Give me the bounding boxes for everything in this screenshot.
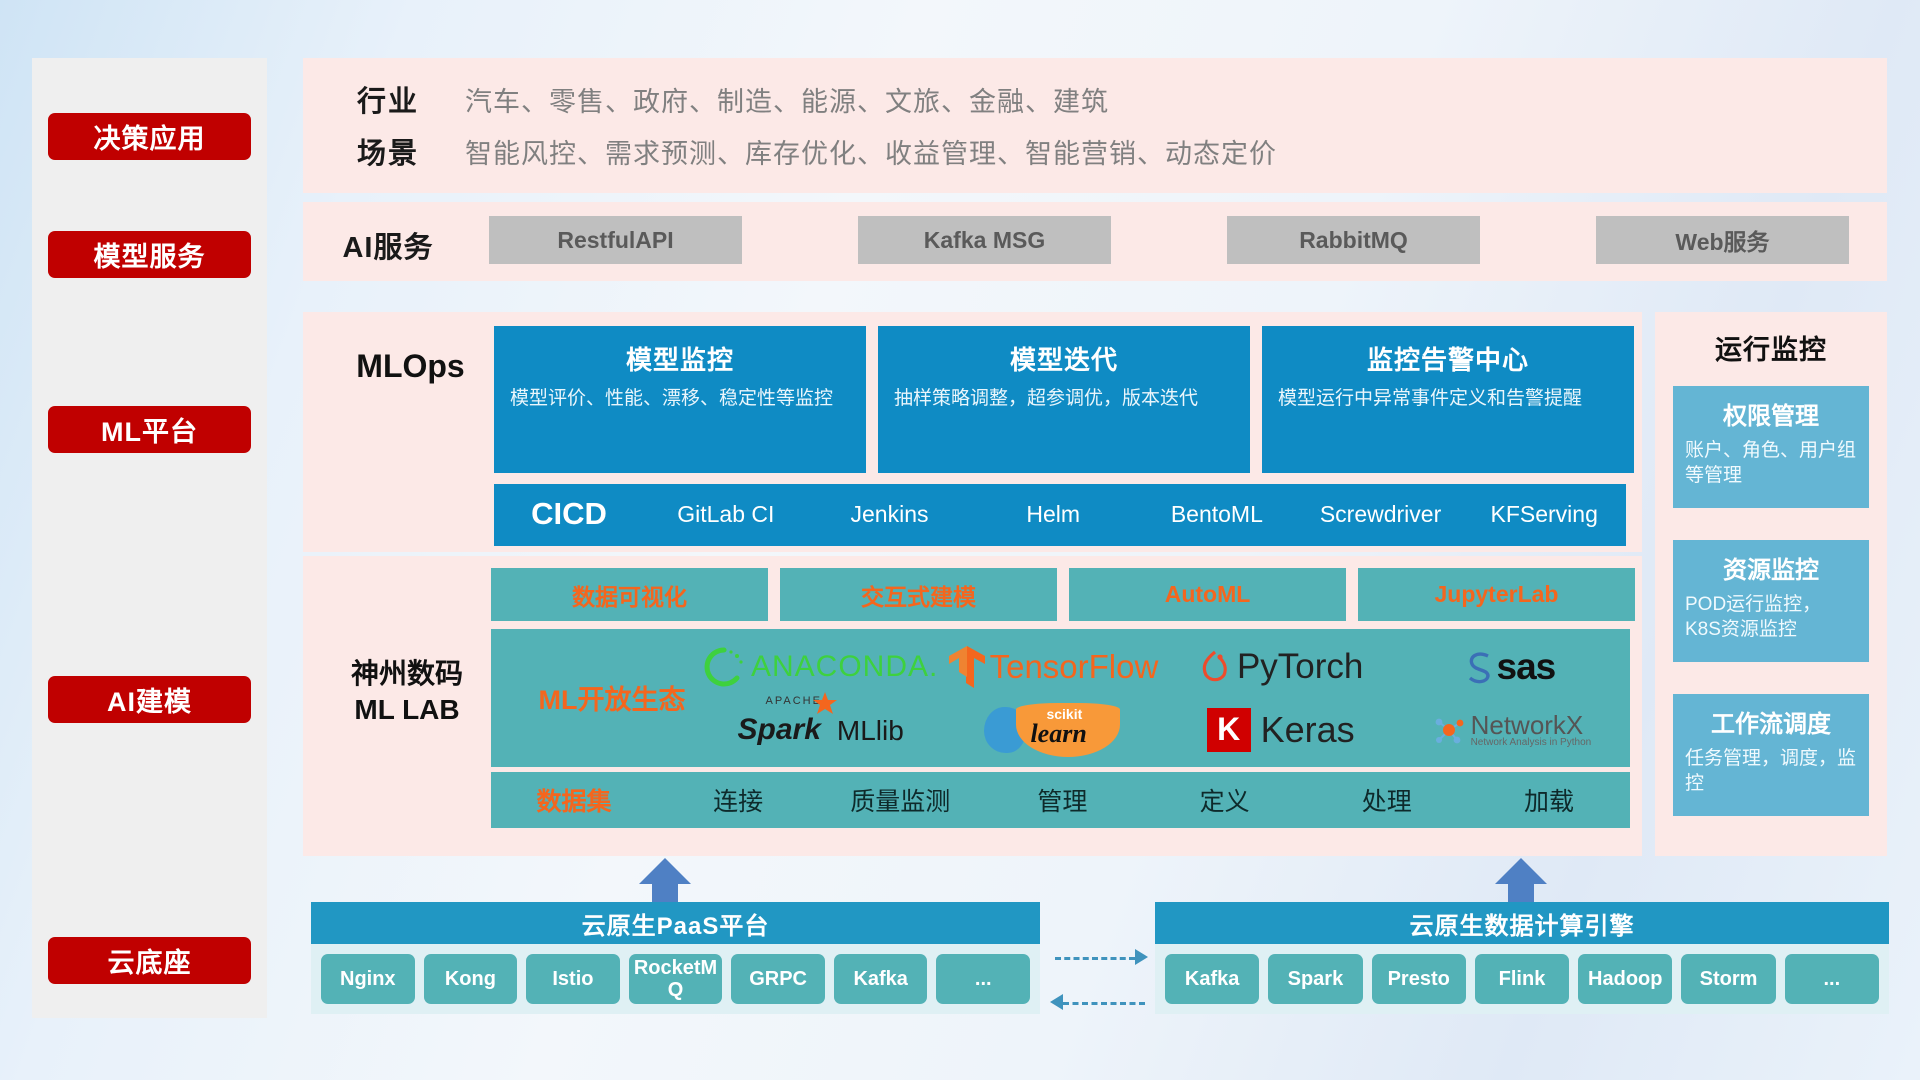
industry-row: 行业 汽车、零售、政府、制造、能源、文旅、金融、建筑	[333, 78, 1109, 120]
ai-service-chip-restfulapi[interactable]: RestfulAPI	[489, 216, 742, 264]
layer-chip-label: AI建模	[107, 680, 192, 719]
monitoring-title: 运行监控	[1655, 328, 1887, 367]
cicd-item-screwdriver[interactable]: Screwdriver	[1299, 484, 1463, 527]
scenario-label: 场景	[333, 130, 443, 172]
networkx-tagline: Network Analysis in Python	[1471, 738, 1592, 748]
networkx-wordmark: NetworkX	[1471, 712, 1592, 738]
layer-chip-model-service[interactable]: 模型服务	[48, 231, 251, 278]
paas-items: Nginx Kong Istio RocketMQ GRPC Kafka ...	[311, 944, 1040, 1014]
logo-tensorflow: TensorFlow	[947, 644, 1159, 690]
ai-service-label: AI服务	[333, 224, 443, 266]
logo-anaconda: ANACONDA.	[703, 646, 938, 688]
logo-sas: sas	[1463, 646, 1556, 688]
dataset-item-quality-monitor[interactable]: 质量监测	[819, 782, 981, 818]
learn-wordmark: learn	[1030, 719, 1086, 749]
layer-rail: 决策应用 模型服务 ML平台 AI建模 云底座	[32, 58, 267, 1018]
tool-chip-interactive-modeling[interactable]: 交互式建模	[780, 568, 1057, 621]
data-engine-title: 云原生数据计算引擎	[1155, 902, 1889, 944]
engine-chip-flink[interactable]: Flink	[1475, 954, 1569, 1004]
paas-chip-kafka[interactable]: Kafka	[834, 954, 928, 1004]
ai-service-items: RestfulAPI Kafka MSG RabbitMQ Web服务	[489, 216, 1849, 264]
cicd-item-gitlab-ci[interactable]: GitLab CI	[644, 484, 808, 527]
data-engine-items: Kafka Spark Presto Flink Hadoop Storm ..…	[1155, 944, 1889, 1014]
decision-application-band: 行业 汽车、零售、政府、制造、能源、文旅、金融、建筑 场景 智能风控、需求预测、…	[303, 58, 1887, 193]
logo-keras: K Keras	[1207, 708, 1355, 752]
layer-chip-label: 决策应用	[94, 117, 206, 156]
engine-chip-kafka[interactable]: Kafka	[1165, 954, 1259, 1004]
tool-chip-data-visualization[interactable]: 数据可视化	[491, 568, 768, 621]
card-title: 权限管理	[1685, 396, 1857, 431]
layer-chip-label: 模型服务	[94, 235, 206, 274]
anaconda-wordmark: ANACONDA.	[751, 650, 938, 684]
modeling-tools-row: 数据可视化 交互式建模 AutoML JupyterLab	[491, 568, 1635, 621]
pytorch-wordmark: PyTorch	[1237, 647, 1363, 687]
layer-chip-decision-app[interactable]: 决策应用	[48, 113, 251, 160]
scenario-row: 场景 智能风控、需求预测、库存优化、收益管理、智能营销、动态定价	[333, 130, 1277, 172]
ml-lab-label-line1: 神州数码	[317, 656, 497, 692]
scikit-learn-badge: scikit learn	[1016, 703, 1120, 757]
ai-service-chip-kafka-msg[interactable]: Kafka MSG	[858, 216, 1111, 264]
card-desc: 账户、角色、用户组等管理	[1685, 438, 1857, 489]
spark-wordmark: Spark	[738, 713, 821, 747]
keras-wordmark: Keras	[1261, 709, 1355, 751]
card-desc: 任务管理，调度，监控	[1685, 746, 1857, 797]
industry-value: 汽车、零售、政府、制造、能源、文旅、金融、建筑	[465, 80, 1109, 119]
card-title: 模型监控	[510, 340, 850, 377]
mlops-card-model-monitoring[interactable]: 模型监控 模型评价、性能、漂移、稳定性等监控	[494, 326, 866, 473]
ml-lab-label: 神州数码 ML LAB	[317, 656, 497, 729]
engine-chip-presto[interactable]: Presto	[1372, 954, 1466, 1004]
cicd-label: CICD	[494, 484, 644, 532]
tensorflow-icon	[947, 644, 987, 690]
mllib-wordmark: MLlib	[837, 715, 904, 747]
mlops-label: MLOps	[323, 348, 498, 385]
sas-icon	[1463, 648, 1497, 686]
engine-chip-spark[interactable]: Spark	[1268, 954, 1362, 1004]
mlops-band: MLOps 模型监控 模型评价、性能、漂移、稳定性等监控 模型迭代 抽样策略调整…	[303, 312, 1642, 552]
paas-chip-grpc[interactable]: GRPC	[731, 954, 825, 1004]
ml-ecosystem-box: ML开放生态 ANACONDA. TensorFlow	[491, 629, 1630, 767]
card-desc: 模型运行中异常事件定义和告警提醒	[1278, 386, 1618, 411]
ai-service-chip-rabbitmq[interactable]: RabbitMQ	[1227, 216, 1480, 264]
keras-mark-icon: K	[1207, 708, 1251, 752]
dataset-item-connect[interactable]: 连接	[657, 782, 819, 818]
mlops-cards: 模型监控 模型评价、性能、漂移、稳定性等监控 模型迭代 抽样策略调整，超参调优，…	[494, 326, 1634, 473]
anaconda-icon	[703, 646, 745, 688]
paas-chip-kong[interactable]: Kong	[424, 954, 518, 1004]
engine-chip-more[interactable]: ...	[1785, 954, 1879, 1004]
ml-ecosystem-logos: ANACONDA. TensorFlow PyTorch	[703, 635, 1623, 761]
mlops-card-alert-center[interactable]: 监控告警中心 模型运行中异常事件定义和告警提醒	[1262, 326, 1634, 473]
spark-star-icon	[812, 691, 838, 717]
cicd-item-bentoml[interactable]: BentoML	[1135, 484, 1299, 527]
cicd-item-kfserving[interactable]: KFServing	[1462, 484, 1626, 527]
layer-chip-ml-platform[interactable]: ML平台	[48, 406, 251, 453]
sas-wordmark: sas	[1497, 646, 1556, 688]
paas-chip-rocketmq[interactable]: RocketMQ	[629, 954, 723, 1004]
dataset-bar: 数据集 连接 质量监测 管理 定义 处理 加载	[491, 772, 1630, 828]
card-desc: 模型评价、性能、漂移、稳定性等监控	[510, 386, 850, 411]
card-title: 监控告警中心	[1278, 340, 1618, 377]
dataset-label: 数据集	[491, 782, 657, 818]
logo-spark-mllib: APACHE Spark MLlib	[738, 713, 904, 747]
paas-chip-istio[interactable]: Istio	[526, 954, 620, 1004]
engine-chip-hadoop[interactable]: Hadoop	[1578, 954, 1672, 1004]
cicd-item-jenkins[interactable]: Jenkins	[808, 484, 972, 527]
logo-scikit-learn: scikit learn	[984, 703, 1120, 757]
tool-chip-automl[interactable]: AutoML	[1069, 568, 1346, 621]
card-title: 工作流调度	[1685, 704, 1857, 739]
mlops-card-model-iteration[interactable]: 模型迭代 抽样策略调整，超参调优，版本迭代	[878, 326, 1250, 473]
scenario-value: 智能风控、需求预测、库存优化、收益管理、智能营销、动态定价	[465, 132, 1277, 171]
card-desc: 抽样策略调整，超参调优，版本迭代	[894, 386, 1234, 411]
layer-chip-label: ML平台	[101, 410, 198, 449]
cicd-item-helm[interactable]: Helm	[971, 484, 1135, 527]
engine-chip-storm[interactable]: Storm	[1681, 954, 1775, 1004]
layer-chip-ai-modeling[interactable]: AI建模	[48, 676, 251, 723]
ai-service-chip-web-service[interactable]: Web服务	[1596, 216, 1849, 264]
paas-chip-more[interactable]: ...	[936, 954, 1030, 1004]
paas-chip-nginx[interactable]: Nginx	[321, 954, 415, 1004]
tool-chip-jupyterlab[interactable]: JupyterLab	[1358, 568, 1635, 621]
card-title: 资源监控	[1685, 550, 1857, 585]
dataset-item-manage[interactable]: 管理	[981, 782, 1143, 818]
cloud-data-engine-block: 云原生数据计算引擎 Kafka Spark Presto Flink Hadoo…	[1155, 902, 1889, 1014]
layer-chip-cloud-base[interactable]: 云底座	[48, 937, 251, 984]
monitoring-card-resource[interactable]: 资源监控 POD运行监控，K8S资源监控	[1673, 540, 1869, 662]
networkx-icon	[1427, 710, 1467, 750]
ai-service-band: AI服务 RestfulAPI Kafka MSG RabbitMQ Web服务	[303, 202, 1887, 281]
monitoring-card-workflow[interactable]: 工作流调度 任务管理，调度，监控	[1673, 694, 1869, 816]
logo-pytorch: PyTorch	[1198, 647, 1363, 687]
tensorflow-wordmark: TensorFlow	[990, 648, 1159, 686]
cloud-paas-block: 云原生PaaS平台 Nginx Kong Istio RocketMQ GRPC…	[311, 902, 1040, 1014]
dataset-item-process[interactable]: 处理	[1306, 782, 1468, 818]
ml-lab-label-line2: ML LAB	[317, 692, 497, 728]
monitoring-card-permission[interactable]: 权限管理 账户、角色、用户组等管理	[1673, 386, 1869, 508]
card-desc: POD运行监控，K8S资源监控	[1685, 592, 1857, 643]
cicd-bar: CICD GitLab CI Jenkins Helm BentoML Scre…	[494, 484, 1626, 546]
architecture-diagram: 决策应用 模型服务 ML平台 AI建模 云底座 行业 汽车、零售、政府、制造、能…	[0, 0, 1920, 1080]
layer-chip-label: 云底座	[108, 941, 192, 980]
card-title: 模型迭代	[894, 340, 1234, 377]
dataset-item-load[interactable]: 加载	[1468, 782, 1630, 818]
pytorch-icon	[1198, 647, 1232, 687]
industry-label: 行业	[333, 78, 443, 120]
ml-ecosystem-label: ML开放生态	[517, 678, 707, 717]
runtime-monitoring-band: 运行监控 权限管理 账户、角色、用户组等管理 资源监控 POD运行监控，K8S资…	[1655, 312, 1887, 856]
logo-networkx: NetworkX Network Analysis in Python	[1427, 710, 1592, 750]
dataset-item-define[interactable]: 定义	[1144, 782, 1306, 818]
paas-title: 云原生PaaS平台	[311, 902, 1040, 944]
